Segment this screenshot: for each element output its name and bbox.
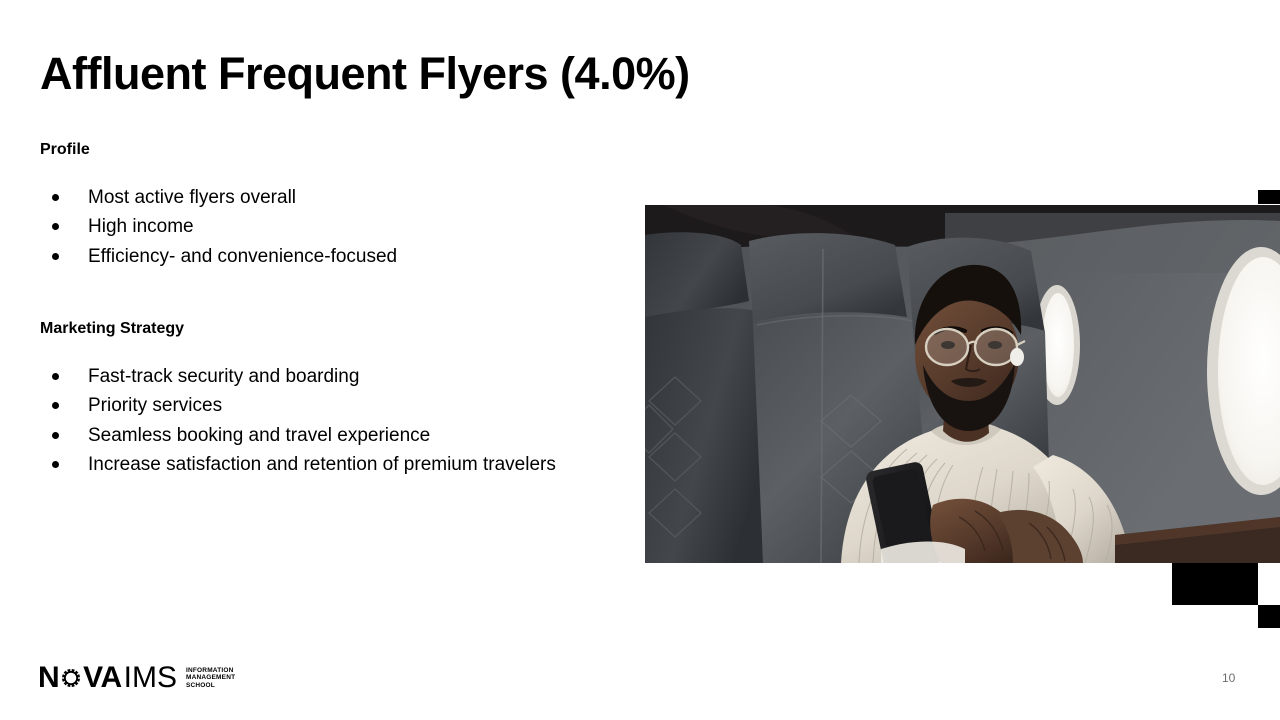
list-item: Fast-track security and boarding bbox=[40, 362, 556, 391]
list-item: High income bbox=[40, 212, 397, 241]
nova-letters-va: VA bbox=[83, 663, 121, 693]
list-item-label: High income bbox=[88, 216, 194, 237]
bullet-dot-icon bbox=[52, 253, 59, 260]
list-item: Increase satisfaction and retention of p… bbox=[40, 450, 556, 479]
bullet-dot-icon bbox=[52, 432, 59, 439]
bullet-dot-icon bbox=[52, 373, 59, 380]
section-heading-marketing-strategy: Marketing Strategy bbox=[40, 319, 184, 338]
section-heading-profile: Profile bbox=[40, 140, 90, 159]
bullet-dot-icon bbox=[52, 194, 59, 201]
bullet-dot-icon bbox=[52, 461, 59, 468]
nova-wordmark: N bbox=[38, 663, 122, 693]
list-item-label: Most active flyers overall bbox=[88, 187, 296, 208]
list-item-label: Increase satisfaction and retention of p… bbox=[88, 454, 556, 475]
list-item-label: Fast-track security and boarding bbox=[88, 366, 359, 387]
slide-canvas: Affluent Frequent Flyers (4.0%) Profile … bbox=[0, 0, 1280, 720]
cog-icon bbox=[60, 667, 82, 689]
nova-ims-logo: N bbox=[38, 661, 235, 695]
cabin-photo-illustration bbox=[645, 205, 1280, 563]
nova-letter-n: N bbox=[38, 663, 59, 693]
decorative-block-top-right bbox=[1258, 190, 1280, 204]
logo-tagline: Information Management School bbox=[186, 667, 235, 690]
slide-number: 10 bbox=[1222, 671, 1235, 685]
list-item-label: Efficiency- and convenience-focused bbox=[88, 246, 397, 267]
profile-bullet-list: Most active flyers overall High income E… bbox=[40, 183, 397, 271]
cabin-photo bbox=[645, 205, 1280, 563]
page-title: Affluent Frequent Flyers (4.0%) bbox=[40, 50, 690, 99]
list-item-label: Seamless booking and travel experience bbox=[88, 425, 430, 446]
decorative-block-bottom-small bbox=[1258, 605, 1280, 628]
list-item-label: Priority services bbox=[88, 395, 222, 416]
list-item: Priority services bbox=[40, 391, 556, 420]
bullet-dot-icon bbox=[52, 223, 59, 230]
list-item: Efficiency- and convenience-focused bbox=[40, 242, 397, 271]
tagline-line-2: Management bbox=[186, 674, 235, 681]
list-item: Most active flyers overall bbox=[40, 183, 397, 212]
tagline-line-3: School bbox=[186, 682, 215, 689]
tagline-line-1: Information bbox=[186, 667, 234, 674]
marketing-strategy-bullet-list: Fast-track security and boarding Priorit… bbox=[40, 362, 556, 480]
decorative-block-bottom-large bbox=[1172, 563, 1258, 605]
bullet-dot-icon bbox=[52, 402, 59, 409]
ims-wordmark: IMS bbox=[124, 663, 177, 693]
list-item: Seamless booking and travel experience bbox=[40, 421, 556, 450]
